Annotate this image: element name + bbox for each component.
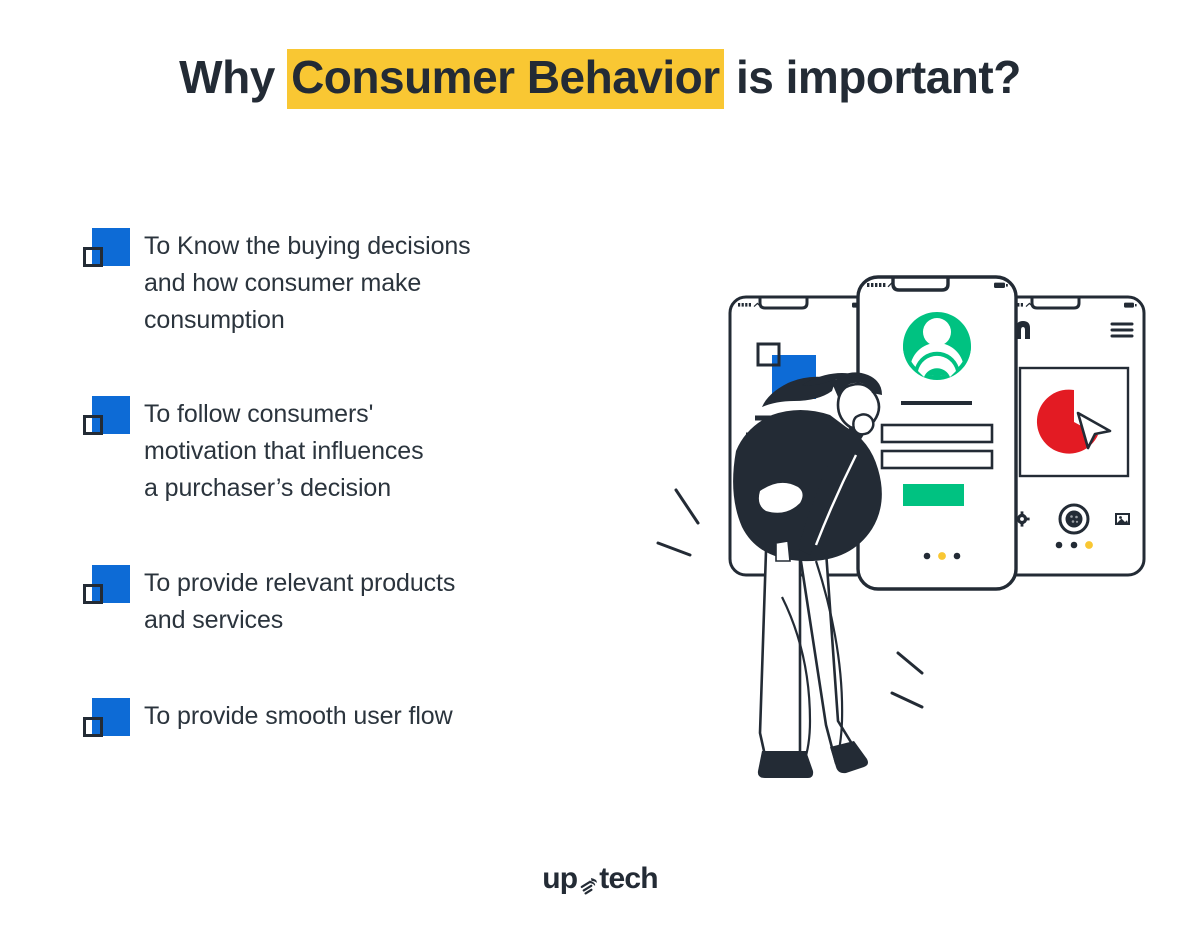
list-item-text: To follow consumers' motivation that inf…: [144, 396, 424, 507]
bullet-marker-icon: [82, 228, 144, 272]
list-item-text: To provide smooth user flow: [144, 698, 453, 735]
image-icon[interactable]: [1115, 513, 1130, 525]
bullet-marker-icon: [82, 396, 144, 440]
bee-stripes-mark-icon: [578, 870, 598, 892]
page-title: Why Consumer Behavior is important?: [0, 50, 1200, 104]
phone-right: [1002, 297, 1144, 575]
bullet-square-outline-icon: [83, 584, 103, 604]
list-item-line: To provide relevant products: [144, 565, 455, 602]
list-item-line: To provide smooth user flow: [144, 698, 453, 735]
list-item: To provide smooth user flow: [82, 698, 642, 742]
bullet-marker-icon: [82, 698, 144, 742]
list-item-line: To follow consumers': [144, 396, 424, 433]
input-field-2[interactable]: [882, 451, 992, 468]
logo-text-up: up: [542, 862, 577, 896]
list-item-line: a purchaser’s decision: [144, 470, 424, 507]
camera-shutter-icon[interactable]: [1060, 505, 1088, 533]
bullet-marker-icon: [82, 565, 144, 609]
bullet-square-outline-icon: [83, 247, 103, 267]
list-item: To provide relevant products and service…: [82, 565, 642, 639]
list-item-line: To Know the buying decisions: [144, 228, 471, 265]
list-item: To Know the buying decisions and how con…: [82, 228, 642, 339]
logo-text-tech: tech: [599, 862, 658, 896]
list-item: To follow consumers' motivation that inf…: [82, 396, 642, 507]
list-item-line: consumption: [144, 302, 471, 339]
bullet-square-outline-icon: [83, 415, 103, 435]
brand-logo: up tech: [0, 862, 1200, 896]
title-prefix: Why: [179, 51, 287, 103]
title-suffix: is important?: [724, 51, 1021, 103]
bullet-square-outline-icon: [83, 717, 103, 737]
illustration-person-with-phones: [650, 255, 1170, 815]
green-avatar-icon: [903, 312, 971, 383]
phone-center: [858, 277, 1016, 589]
list-item-line: and how consumer make: [144, 265, 471, 302]
list-item-text: To provide relevant products and service…: [144, 565, 455, 639]
benefits-list: To Know the buying decisions and how con…: [82, 228, 642, 742]
title-highlight: Consumer Behavior: [287, 49, 724, 109]
input-field-1[interactable]: [882, 425, 992, 442]
list-item-line: motivation that influences: [144, 433, 424, 470]
green-submit-button[interactable]: [903, 484, 964, 506]
list-item-text: To Know the buying decisions and how con…: [144, 228, 471, 339]
list-item-line: and services: [144, 602, 455, 639]
infographic-page: Why Consumer Behavior is important? To K…: [0, 0, 1200, 925]
